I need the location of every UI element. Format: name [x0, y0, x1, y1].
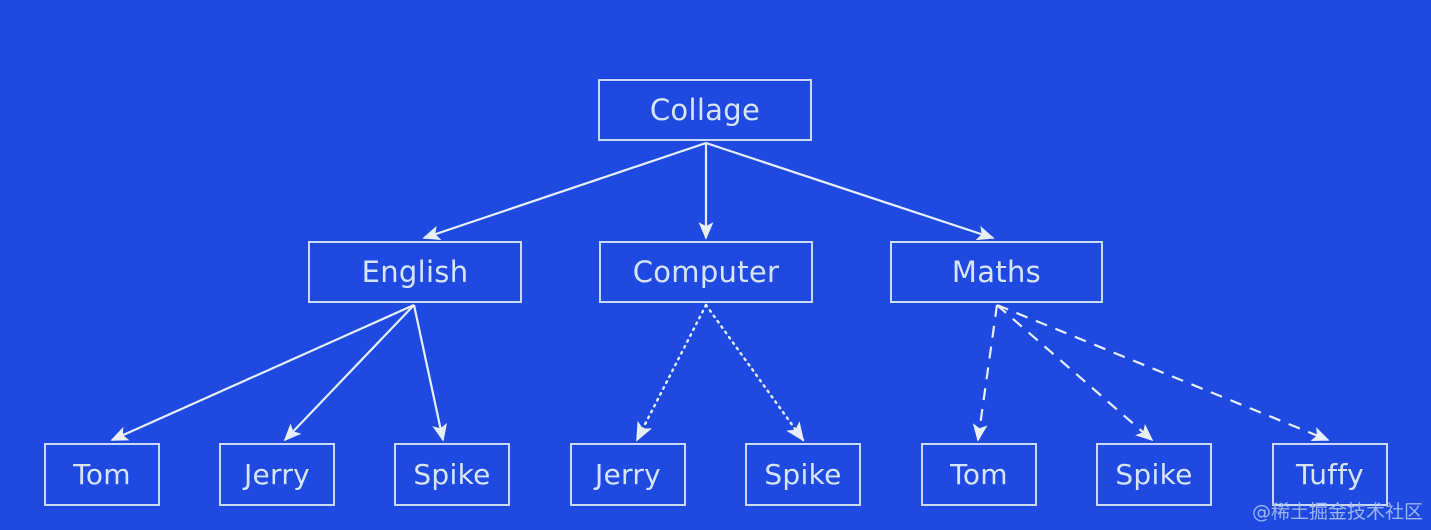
node-eng-tom[interactable]: Tom — [44, 443, 160, 506]
node-mat-tom[interactable]: Tom — [921, 443, 1037, 506]
node-label: Tom — [73, 458, 131, 491]
node-maths[interactable]: Maths — [890, 241, 1103, 303]
node-label: Tuffy — [1296, 458, 1364, 491]
node-label: Spike — [1115, 458, 1192, 491]
node-label: Jerry — [595, 458, 661, 491]
node-com-spike[interactable]: Spike — [745, 443, 861, 506]
edge-computer-to-com-jerry — [637, 305, 706, 440]
node-label: Maths — [952, 255, 1041, 289]
node-eng-jerry[interactable]: Jerry — [219, 443, 335, 506]
edge-english-to-eng-tom — [112, 305, 414, 440]
node-com-jerry[interactable]: Jerry — [570, 443, 686, 506]
edge-collage-to-english — [424, 143, 706, 238]
edge-english-to-eng-jerry — [285, 305, 414, 440]
edge-maths-to-mat-spike — [997, 305, 1152, 440]
diagram-canvas: CollageEnglishComputerMathsTomJerrySpike… — [0, 0, 1431, 530]
node-label: Computer — [633, 255, 780, 289]
edge-maths-to-mat-tuffy — [997, 305, 1328, 440]
node-mat-spike[interactable]: Spike — [1096, 443, 1212, 506]
edge-english-to-eng-spike — [414, 305, 443, 440]
node-label: Jerry — [244, 458, 310, 491]
node-computer[interactable]: Computer — [599, 241, 813, 303]
node-label: Tom — [950, 458, 1008, 491]
node-collage[interactable]: Collage — [598, 79, 812, 141]
edge-computer-to-com-spike — [706, 305, 803, 440]
node-english[interactable]: English — [308, 241, 522, 303]
node-eng-spike[interactable]: Spike — [394, 443, 510, 506]
node-label: Collage — [650, 93, 760, 127]
node-label: English — [362, 255, 469, 289]
watermark-label: @稀土掘金技术社区 — [1252, 497, 1423, 524]
node-label: Spike — [413, 458, 490, 491]
edge-maths-to-mat-tom — [978, 305, 997, 440]
node-label: Spike — [764, 458, 841, 491]
edge-collage-to-maths — [706, 143, 993, 238]
